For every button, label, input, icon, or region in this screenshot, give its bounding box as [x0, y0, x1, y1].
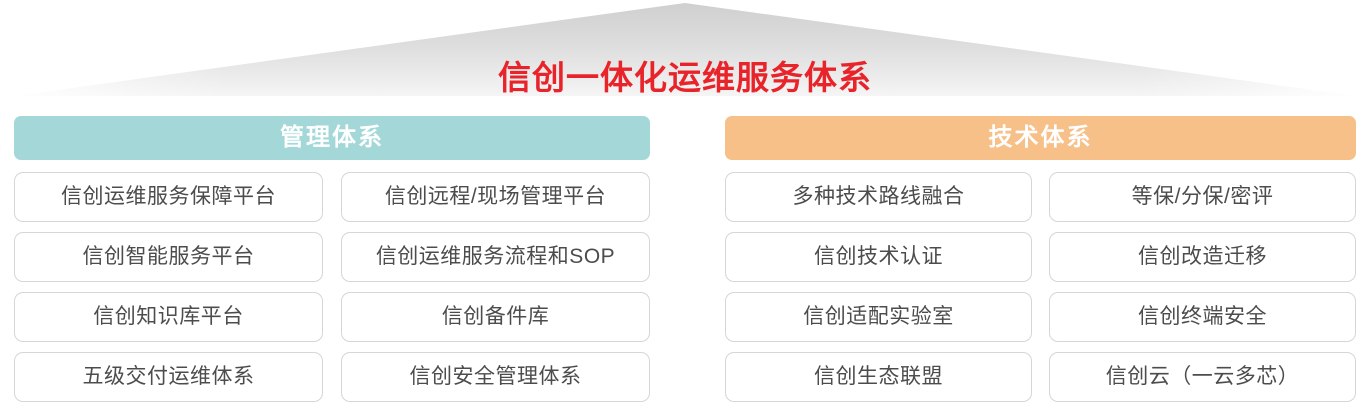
card-technology-2[interactable]: 等保/分保/密评: [1049, 172, 1356, 222]
card-management-4[interactable]: 信创运维服务流程和SOP: [341, 232, 650, 282]
card-management-3[interactable]: 信创智能服务平台: [14, 232, 323, 282]
section-header-technology: 技术体系: [725, 116, 1356, 160]
card-management-7[interactable]: 五级交付运维体系: [14, 352, 323, 402]
page-title: 信创一体化运维服务体系: [0, 56, 1370, 100]
card-technology-6[interactable]: 信创终端安全: [1049, 292, 1356, 342]
card-management-5[interactable]: 信创知识库平台: [14, 292, 323, 342]
card-grid-technology: 多种技术路线融合 等保/分保/密评 信创技术认证 信创改造迁移 信创适配实验室 …: [725, 172, 1356, 402]
card-management-2[interactable]: 信创远程/现场管理平台: [341, 172, 650, 222]
card-management-8[interactable]: 信创安全管理体系: [341, 352, 650, 402]
card-grid-management: 信创运维服务保障平台 信创远程/现场管理平台 信创智能服务平台 信创运维服务流程…: [14, 172, 650, 402]
section-header-management: 管理体系: [14, 116, 650, 160]
card-technology-3[interactable]: 信创技术认证: [725, 232, 1032, 282]
section-technology: 技术体系 多种技术路线融合 等保/分保/密评 信创技术认证 信创改造迁移 信创适…: [725, 116, 1356, 402]
card-technology-7[interactable]: 信创生态联盟: [725, 352, 1032, 402]
card-technology-1[interactable]: 多种技术路线融合: [725, 172, 1032, 222]
section-management: 管理体系 信创运维服务保障平台 信创远程/现场管理平台 信创智能服务平台 信创运…: [14, 116, 650, 402]
card-technology-8[interactable]: 信创云（一云多芯）: [1049, 352, 1356, 402]
card-management-6[interactable]: 信创备件库: [341, 292, 650, 342]
card-technology-4[interactable]: 信创改造迁移: [1049, 232, 1356, 282]
card-management-1[interactable]: 信创运维服务保障平台: [14, 172, 323, 222]
card-technology-5[interactable]: 信创适配实验室: [725, 292, 1032, 342]
